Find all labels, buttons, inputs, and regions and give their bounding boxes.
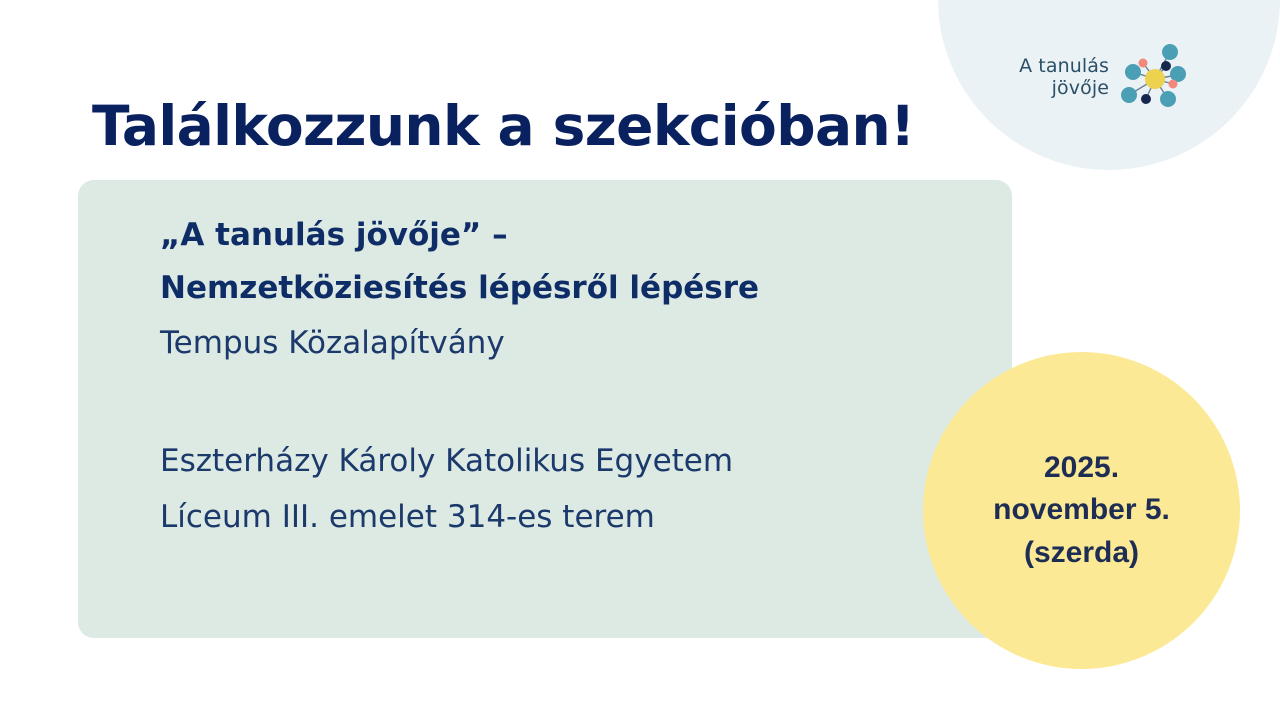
venue-line-2: Líceum III. emelet 314-es terem bbox=[160, 490, 982, 546]
brand-logo: A tanulás jövője bbox=[1001, 42, 1201, 112]
venue-block: Eszterházy Károly Katolikus Egyetem Líce… bbox=[160, 434, 982, 546]
session-title-line-2: Nemzetköziesítés lépésről lépésre bbox=[160, 262, 982, 315]
session-title-line-1: „A tanulás jövője” – bbox=[160, 209, 982, 262]
session-info-panel: „A tanulás jövője” – Nemzetköziesítés lé… bbox=[78, 180, 1012, 638]
page-title: Találkozzunk a szekcióban! bbox=[92, 94, 915, 158]
session-info-content: „A tanulás jövője” – Nemzetköziesítés lé… bbox=[160, 209, 982, 546]
network-nodes-icon bbox=[1115, 41, 1193, 113]
date-badge-text: 2025. november 5. (szerda) bbox=[993, 447, 1170, 575]
brand-wordmark: A tanulás jövője bbox=[1001, 55, 1109, 99]
venue-line-1: Eszterházy Károly Katolikus Egyetem bbox=[160, 434, 982, 490]
date-badge: 2025. november 5. (szerda) bbox=[923, 352, 1240, 669]
brand-wordmark-line2: jövője bbox=[1001, 77, 1109, 99]
brand-wordmark-line1: A tanulás bbox=[1019, 55, 1109, 77]
date-badge-weekday: (szerda) bbox=[993, 532, 1170, 575]
slide-canvas: A tanulás jövője bbox=[0, 0, 1280, 720]
date-badge-year: 2025. bbox=[993, 447, 1170, 490]
session-organizer: Tempus Közalapítvány bbox=[160, 317, 982, 370]
date-badge-day: november 5. bbox=[993, 489, 1170, 532]
